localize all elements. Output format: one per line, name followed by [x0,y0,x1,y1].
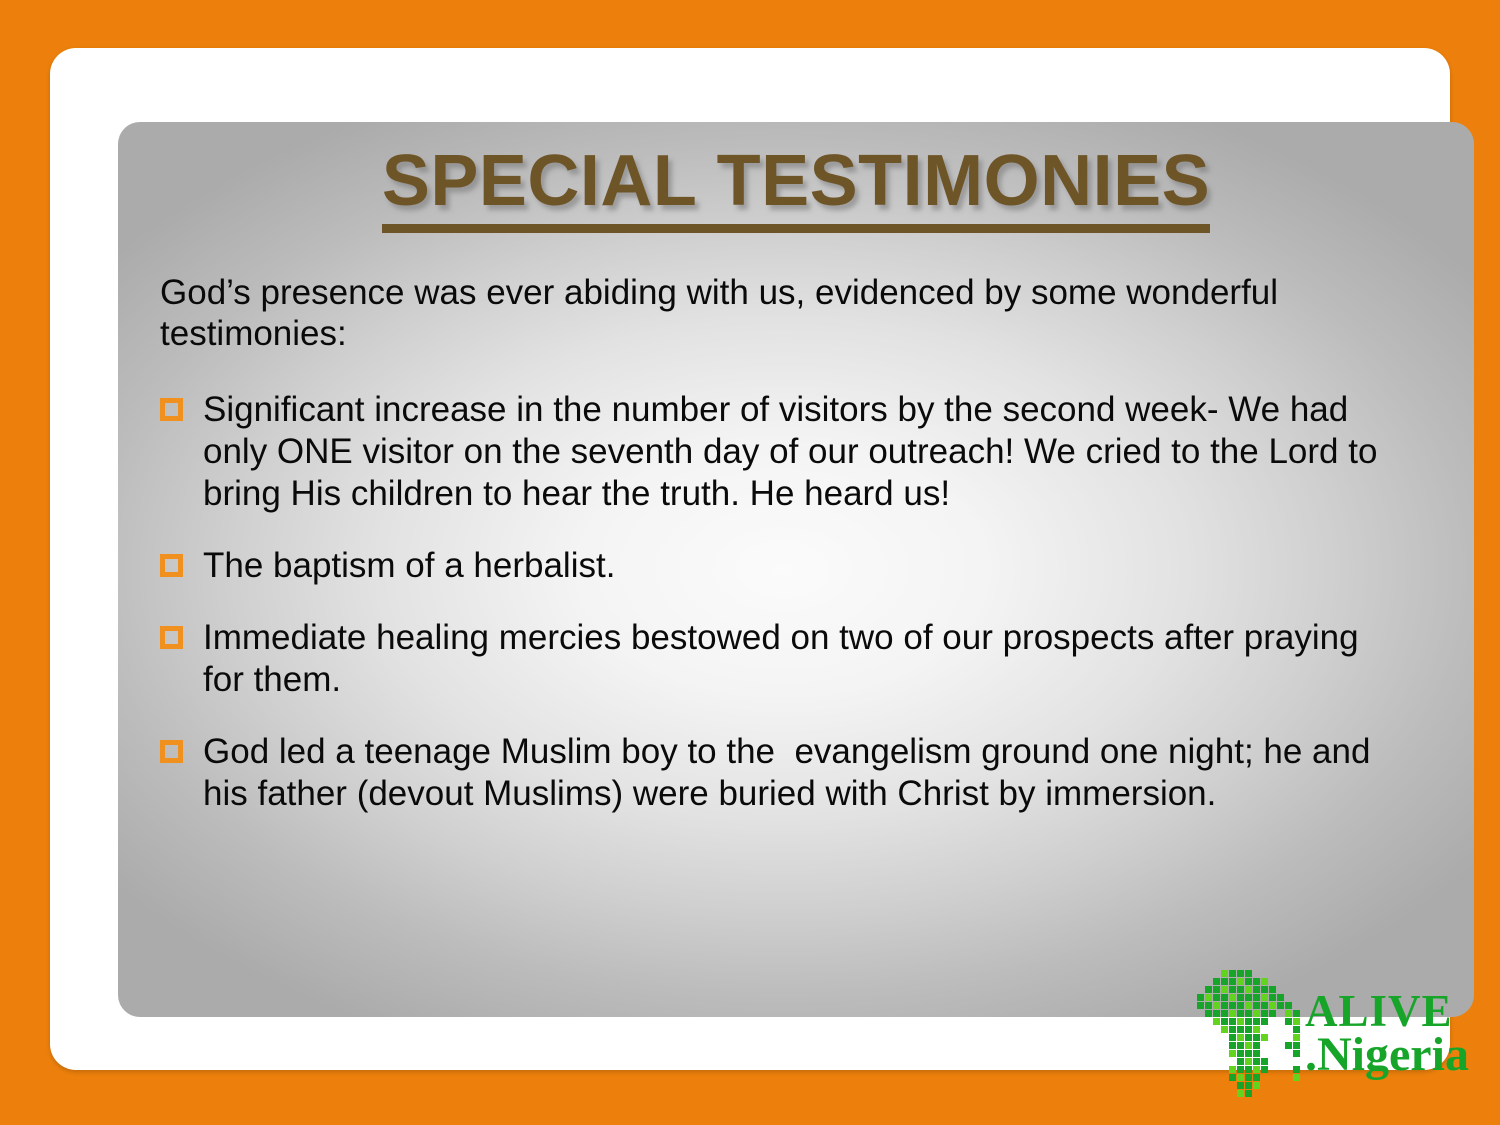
africa-pixel-map-icon [1197,970,1303,1098]
content-panel: SPECIAL TESTIMONIES God’s presence was e… [118,122,1474,1017]
list-item-label: Significant increase in the number of vi… [203,389,1408,515]
hollow-square-bullet-icon [160,398,183,421]
title-container: SPECIAL TESTIMONIES [118,144,1474,233]
testimony-list: Significant increase in the number of vi… [156,389,1446,815]
list-item-label: Immediate healing mercies bestowed on tw… [203,617,1408,701]
list-item-label: The baptism of a herbalist. [203,545,615,587]
logo-wordmark: ALIVE .Nigeria [1305,991,1469,1077]
slide-body: God’s presence was ever abiding with us,… [156,272,1446,815]
logo-line-nigeria: .Nigeria [1305,1033,1469,1077]
list-item-label: God led a teenage Muslim boy to the evan… [203,731,1408,815]
list-item: Immediate healing mercies bestowed on tw… [156,617,1446,701]
slide-card: SPECIAL TESTIMONIES God’s presence was e… [50,48,1450,1070]
list-item: The baptism of a herbalist. [156,545,1446,587]
alive-nigeria-logo: ALIVE .Nigeria [1197,970,1487,1098]
logo-line-alive: ALIVE [1305,991,1469,1032]
hollow-square-bullet-icon [160,554,183,577]
list-item: God led a teenage Muslim boy to the evan… [156,731,1446,815]
slide-canvas: SPECIAL TESTIMONIES God’s presence was e… [0,0,1500,1125]
list-item: Significant increase in the number of vi… [156,389,1446,515]
intro-paragraph: God’s presence was ever abiding with us,… [160,272,1446,355]
page-title: SPECIAL TESTIMONIES [382,144,1210,233]
hollow-square-bullet-icon [160,626,183,649]
hollow-square-bullet-icon [160,740,183,763]
